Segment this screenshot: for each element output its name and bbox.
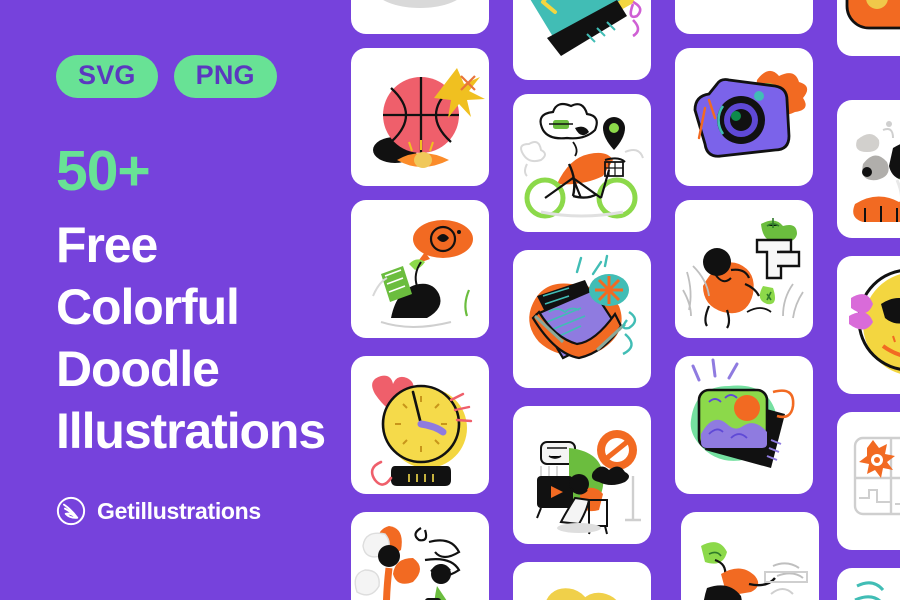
illustration-card[interactable] xyxy=(837,568,900,600)
headline-line-2: Colorful xyxy=(56,276,350,338)
getillustrations-swirl-icon xyxy=(56,496,86,526)
illustration-card[interactable] xyxy=(513,250,651,388)
headline-block: 50+ Free Colorful Doodle Illustrations xyxy=(56,143,350,462)
illustration-card[interactable] xyxy=(675,48,813,186)
illustration-card[interactable] xyxy=(837,100,900,238)
alarm-clock-illustration xyxy=(351,356,489,494)
headline-line-3: Doodle xyxy=(56,338,350,400)
brand-name: Getillustrations xyxy=(97,498,261,525)
illustration-card[interactable] xyxy=(681,512,819,600)
illustration-grid xyxy=(351,0,900,600)
shoe-illustration xyxy=(351,0,489,34)
format-badges: SVG PNG xyxy=(56,55,350,98)
email-envelope-illustration xyxy=(513,250,651,388)
illustration-card[interactable] xyxy=(513,562,651,600)
headline-line-4: Illustrations xyxy=(56,400,350,462)
photo-gallery-illustration xyxy=(675,356,813,494)
illustration-card[interactable] xyxy=(351,512,489,600)
fan-breeze-illustration xyxy=(351,512,489,600)
item-count: 50+ xyxy=(56,143,350,200)
brand-logo[interactable]: Getillustrations xyxy=(56,496,261,526)
illustration-card[interactable] xyxy=(675,356,813,494)
badge-png[interactable]: PNG xyxy=(174,55,277,98)
camera-illustration xyxy=(675,48,813,186)
illustration-card[interactable] xyxy=(513,94,651,232)
badge-svg[interactable]: SVG xyxy=(56,55,158,98)
water-tap-illustration xyxy=(675,200,813,338)
calendar-illustration xyxy=(513,0,651,80)
illustration-card[interactable] xyxy=(513,406,651,544)
letter-m-illustration xyxy=(513,562,651,600)
illustration-card[interactable] xyxy=(351,0,489,34)
game-console-illustration xyxy=(837,0,900,56)
reading-person-illustration xyxy=(351,200,489,338)
illustration-card[interactable] xyxy=(675,200,813,338)
gardening-illustration xyxy=(681,512,819,600)
tv-watching-illustration xyxy=(513,406,651,544)
poster-root: SVG PNG 50+ Free Colorful Doodle Illustr… xyxy=(0,0,900,600)
dog-walking-illustration xyxy=(837,100,900,238)
illustration-card[interactable] xyxy=(675,0,813,34)
illustration-card[interactable] xyxy=(351,200,489,338)
window-sun-illustration xyxy=(837,412,900,550)
illustration-card[interactable] xyxy=(351,356,489,494)
illustration-card[interactable] xyxy=(351,48,489,186)
left-info-panel: SVG PNG 50+ Free Colorful Doodle Illustr… xyxy=(0,0,350,600)
basketball-illustration xyxy=(351,48,489,186)
smiley-sunglasses-illustration xyxy=(837,256,900,394)
illustration-card[interactable] xyxy=(837,412,900,550)
headline-line-1: Free xyxy=(56,214,350,276)
page-title: Free Colorful Doodle Illustrations xyxy=(56,214,350,462)
lines-illustration xyxy=(837,568,900,600)
burst-shape-illustration xyxy=(675,0,813,34)
illustration-card[interactable] xyxy=(837,0,900,56)
cyclist-illustration xyxy=(513,94,651,232)
illustration-card[interactable] xyxy=(837,256,900,394)
illustration-card[interactable] xyxy=(513,0,651,80)
